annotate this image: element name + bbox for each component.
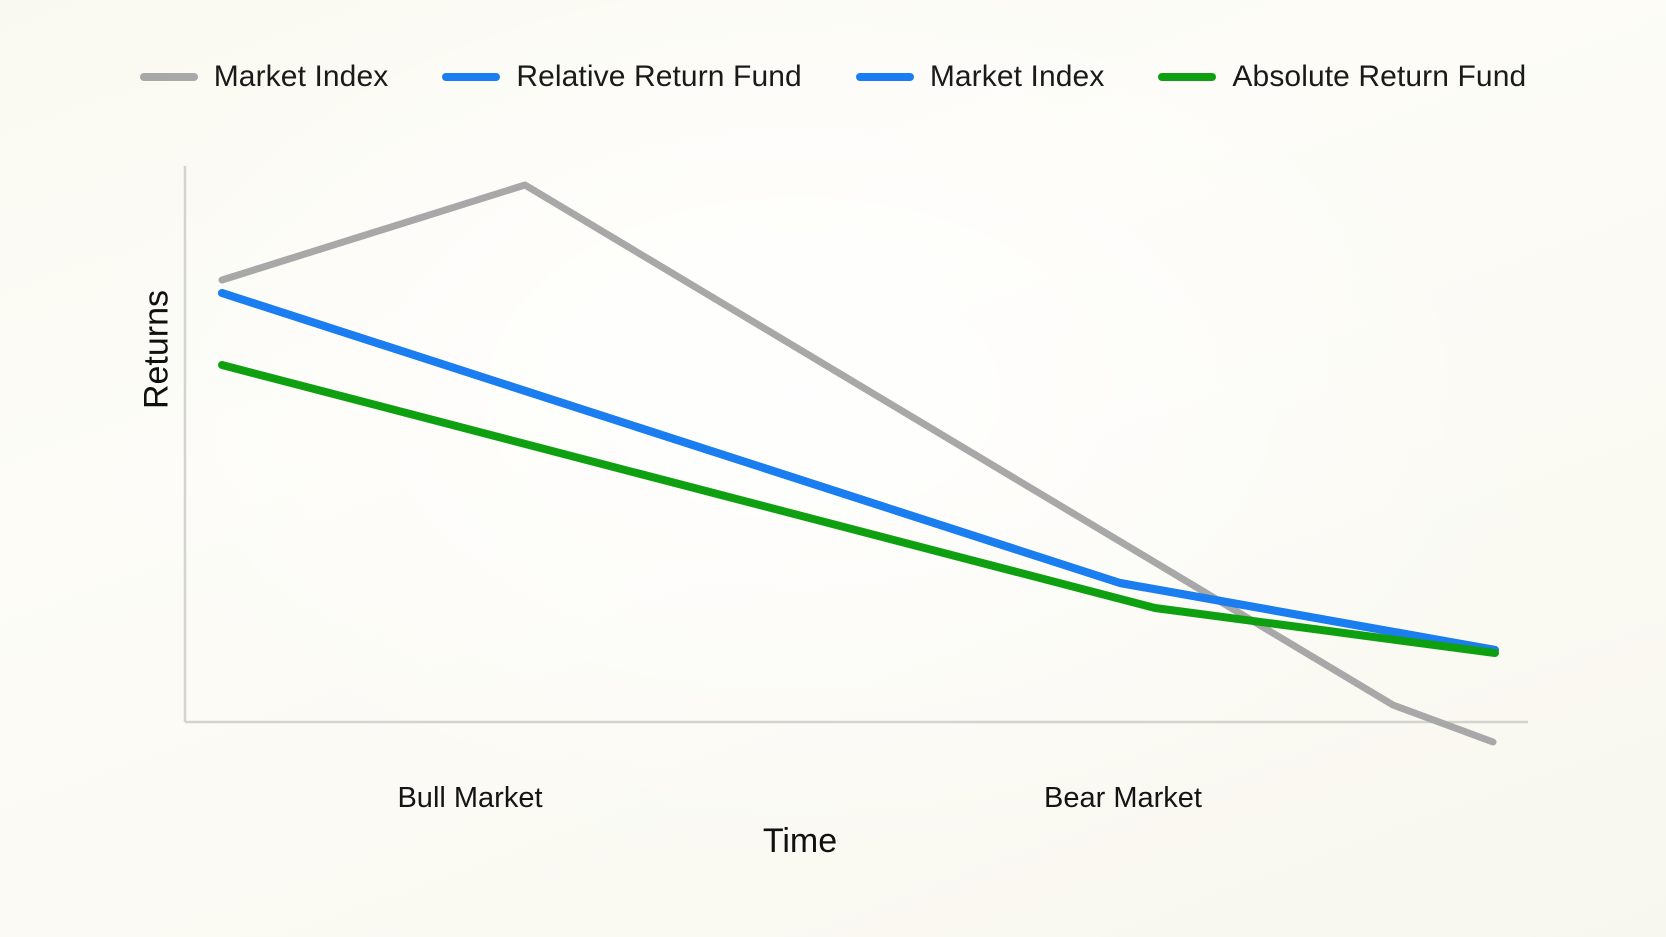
x-tick-label-bear-market: Bear Market bbox=[963, 782, 1283, 815]
legend-item-relative-return-fund[interactable]: Relative Return Fund bbox=[442, 62, 801, 92]
legend-swatch-line-icon bbox=[856, 73, 914, 81]
legend-label: Relative Return Fund bbox=[516, 62, 801, 92]
x-tick-label-bull-market: Bull Market bbox=[310, 782, 630, 815]
chart-series-group bbox=[222, 185, 1495, 742]
x-axis-title: Time bbox=[660, 822, 940, 861]
series-line-relative-return-fund bbox=[222, 293, 1495, 650]
legend-label: Market Index bbox=[930, 62, 1105, 92]
legend-label: Market Index bbox=[214, 62, 389, 92]
legend-swatch-line-icon bbox=[140, 73, 198, 81]
chart-legend: Market Index Relative Return Fund Market… bbox=[0, 62, 1666, 92]
chart-figure: Market Index Relative Return Fund Market… bbox=[0, 0, 1666, 937]
y-axis-title: Returns bbox=[138, 235, 177, 465]
series-line-market-index bbox=[222, 293, 1495, 650]
series-line-market-index bbox=[222, 185, 1493, 742]
legend-item-market-index-blue[interactable]: Market Index bbox=[856, 62, 1105, 92]
legend-label: Absolute Return Fund bbox=[1232, 62, 1526, 92]
chart-plot-area bbox=[0, 0, 1666, 937]
legend-swatch-line-icon bbox=[1158, 73, 1216, 81]
legend-swatch-line-icon bbox=[442, 73, 500, 81]
series-line-absolute-return-fund bbox=[222, 365, 1495, 653]
legend-item-market-index-gray[interactable]: Market Index bbox=[140, 62, 389, 92]
legend-item-absolute-return-fund[interactable]: Absolute Return Fund bbox=[1158, 62, 1526, 92]
